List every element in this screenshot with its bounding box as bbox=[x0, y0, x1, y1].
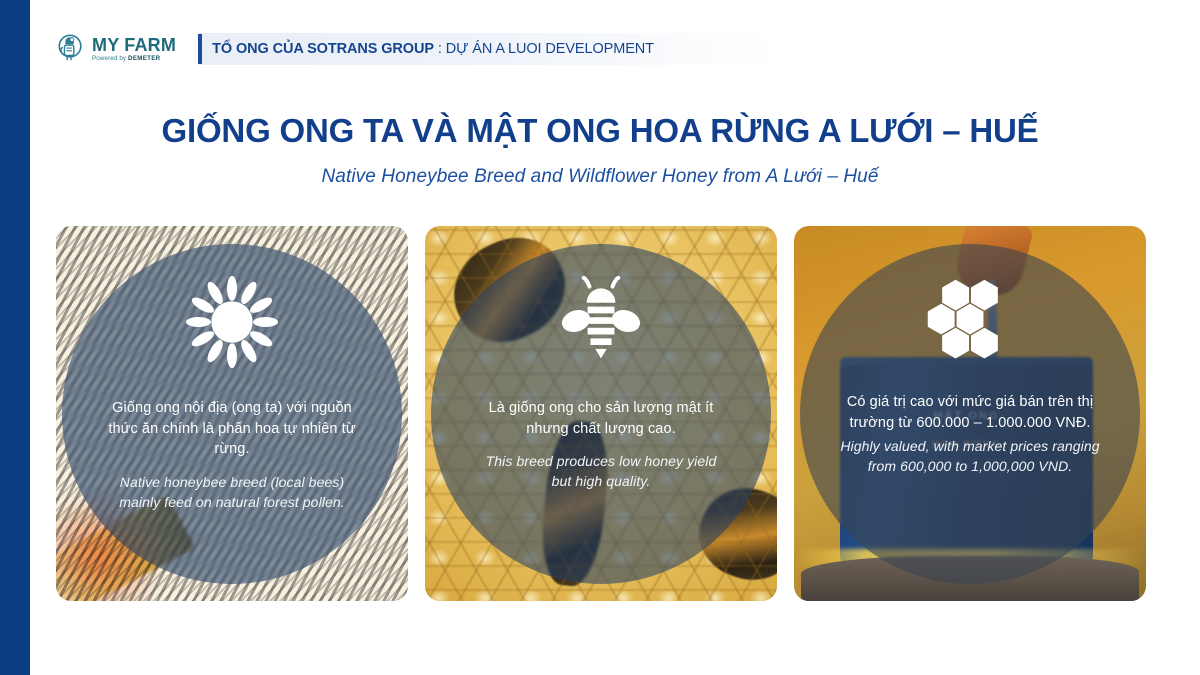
info-card-market-value[interactable]: MẬT ONG HOA RỪNG bbox=[794, 226, 1146, 601]
hen-in-circle-icon bbox=[56, 33, 86, 65]
logo-tagline: Powered by DEMETER bbox=[92, 56, 176, 62]
slide: MY FARM Powered by DEMETER TỔ ONG CỦA SO… bbox=[0, 0, 1200, 675]
card-content: Là giống ong cho sản lượng mật ít nhưng … bbox=[425, 226, 777, 601]
page-subtitle: Native Honeybee Breed and Wildflower Hon… bbox=[0, 166, 1200, 188]
card-content: Giống ong nội địa (ong ta) với nguồn thứ… bbox=[56, 226, 408, 601]
page-title: GIỐNG ONG TA VÀ MẬT ONG HOA RỪNG A LƯỚI … bbox=[0, 112, 1200, 150]
info-card-low-yield[interactable]: Là giống ong cho sản lượng mật ít nhưng … bbox=[425, 226, 777, 601]
left-accent-bar bbox=[0, 0, 30, 675]
project-banner: TỔ ONG CỦA SOTRANS GROUP : DỰ ÁN A LUOI … bbox=[198, 33, 774, 65]
card-content: Có giá trị cao với mức giá bán trên thị … bbox=[794, 226, 1146, 601]
header: MY FARM Powered by DEMETER TỔ ONG CỦA SO… bbox=[56, 28, 774, 70]
card-text-english: Highly valued, with market prices rangin… bbox=[839, 437, 1101, 477]
card-text-english: This breed produces low honey yield but … bbox=[475, 452, 727, 492]
logo-title: MY FARM bbox=[92, 36, 176, 54]
card-row: Giống ong nội địa (ong ta) với nguồn thứ… bbox=[56, 226, 1146, 601]
card-text-vietnamese: Có giá trị cao với mức giá bán trên thị … bbox=[839, 392, 1101, 433]
card-text-vietnamese: Giống ong nội địa (ong ta) với nguồn thứ… bbox=[107, 398, 357, 460]
logo-text-block: MY FARM Powered by DEMETER bbox=[92, 36, 176, 62]
sun-flower-icon bbox=[184, 274, 280, 370]
honeycomb-icon bbox=[922, 274, 1018, 370]
project-name-bold: TỔ ONG CỦA SOTRANS GROUP bbox=[212, 41, 434, 57]
project-banner-text: TỔ ONG CỦA SOTRANS GROUP : DỰ ÁN A LUOI … bbox=[212, 41, 654, 57]
project-name-rest: : DỰ ÁN A LUOI DEVELOPMENT bbox=[434, 41, 654, 57]
bee-icon bbox=[553, 274, 649, 370]
info-card-native-breed[interactable]: Giống ong nội địa (ong ta) với nguồn thứ… bbox=[56, 226, 408, 601]
banner-accent-bar bbox=[198, 34, 202, 64]
card-text-english: Native honeybee breed (local bees) mainl… bbox=[106, 473, 358, 513]
brand-logo: MY FARM Powered by DEMETER bbox=[56, 33, 176, 65]
card-text-vietnamese: Là giống ong cho sản lượng mật ít nhưng … bbox=[476, 398, 726, 439]
